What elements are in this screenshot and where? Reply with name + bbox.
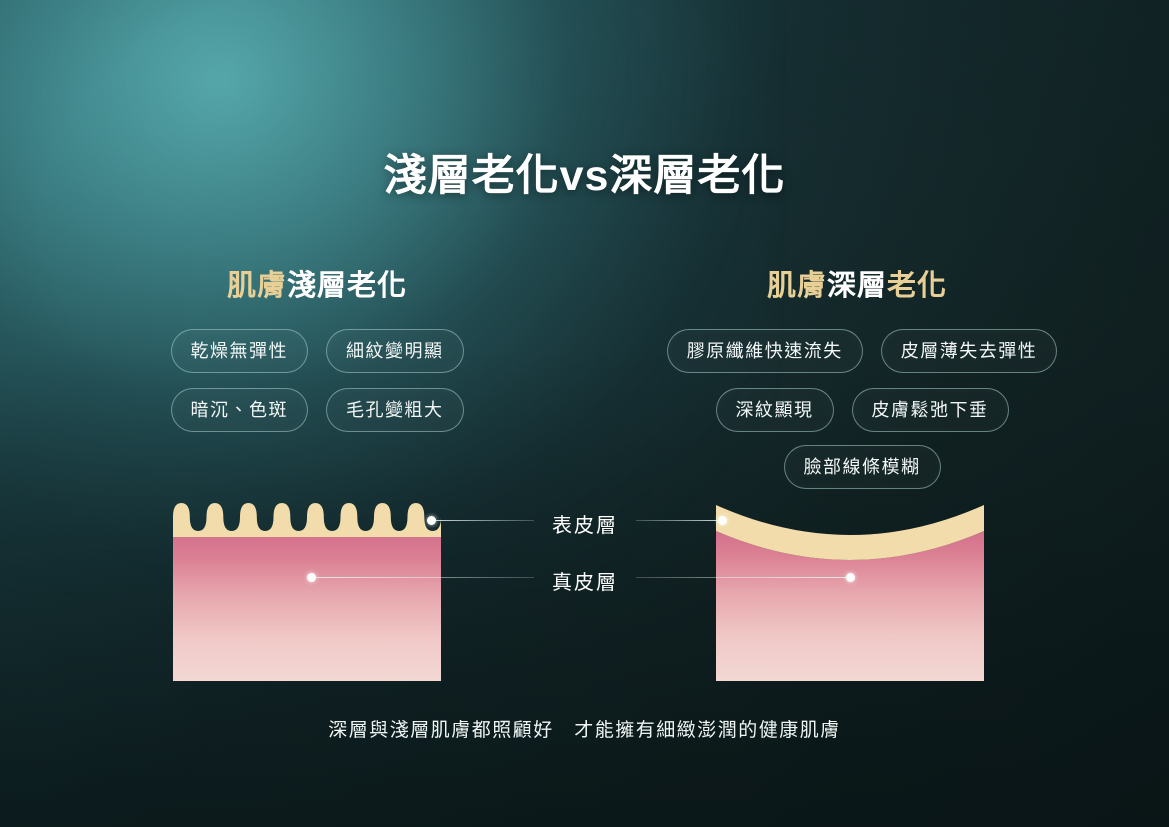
- tag-superficial-pores[interactable]: 毛孔變粗大: [326, 388, 464, 432]
- footer-note: 深層與淺層肌膚都照顧好 才能擁有細緻澎潤的健康肌膚: [0, 715, 1169, 742]
- column-title-highlight: 淺層老化: [287, 270, 407, 302]
- marker-dot-dermis-right: [846, 573, 855, 582]
- tag-deep-sagging-skin[interactable]: 皮膚鬆弛下垂: [852, 388, 1009, 432]
- column-title-prefix: 肌膚: [767, 270, 827, 302]
- tag-superficial-dry[interactable]: 乾燥無彈性: [171, 329, 309, 373]
- diagram-superficial-skin: [173, 503, 441, 681]
- tag-deep-collagen-loss[interactable]: 膠原纖維快速流失: [667, 329, 863, 373]
- sagging-epidermis-skin-cross-section: [716, 503, 984, 681]
- page-title: 淺層老化vs深層老化: [0, 141, 1169, 203]
- column-title-deep: 肌膚深層老化: [712, 262, 1002, 304]
- infographic-canvas: 淺層老化vs深層老化 肌膚淺層老化 肌膚深層老化 乾燥無彈性 細紋變明顯 暗沉、…: [0, 0, 1169, 827]
- connector-epidermis-right: [636, 520, 721, 521]
- diagram-deep-skin: [716, 503, 984, 681]
- marker-dot-epidermis-left: [427, 516, 436, 525]
- tag-row-superficial-1: 乾燥無彈性 細紋變明顯: [97, 329, 537, 373]
- column-title-highlight: 深層: [827, 270, 887, 302]
- tag-superficial-dullness[interactable]: 暗沉、色斑: [171, 388, 309, 432]
- wavy-epidermis-skin-cross-section: [173, 503, 441, 681]
- marker-dot-dermis-left: [307, 573, 316, 582]
- tag-row-deep-2: 深紋顯現 皮膚鬆弛下垂: [627, 388, 1097, 432]
- column-title-suffix: 老化: [887, 270, 947, 302]
- tag-superficial-fine-lines[interactable]: 細紋變明顯: [326, 329, 464, 373]
- tag-row-deep-3: 臉部線條模糊: [627, 445, 1097, 489]
- label-dermis: 真皮層: [495, 566, 675, 595]
- label-epidermis: 表皮層: [495, 509, 675, 538]
- tag-row-deep-1: 膠原纖維快速流失 皮層薄失去彈性: [627, 329, 1097, 373]
- connector-dermis-right: [636, 577, 848, 578]
- tag-deep-deep-wrinkles[interactable]: 深紋顯現: [716, 388, 834, 432]
- column-title-prefix: 肌膚: [227, 270, 287, 302]
- tag-row-superficial-2: 暗沉、色斑 毛孔變粗大: [97, 388, 537, 432]
- marker-dot-epidermis-right: [718, 516, 727, 525]
- tag-deep-blurred-contour[interactable]: 臉部線條模糊: [784, 445, 941, 489]
- column-title-superficial: 肌膚淺層老化: [172, 262, 462, 304]
- tag-deep-thin-elasticity[interactable]: 皮層薄失去彈性: [881, 329, 1058, 373]
